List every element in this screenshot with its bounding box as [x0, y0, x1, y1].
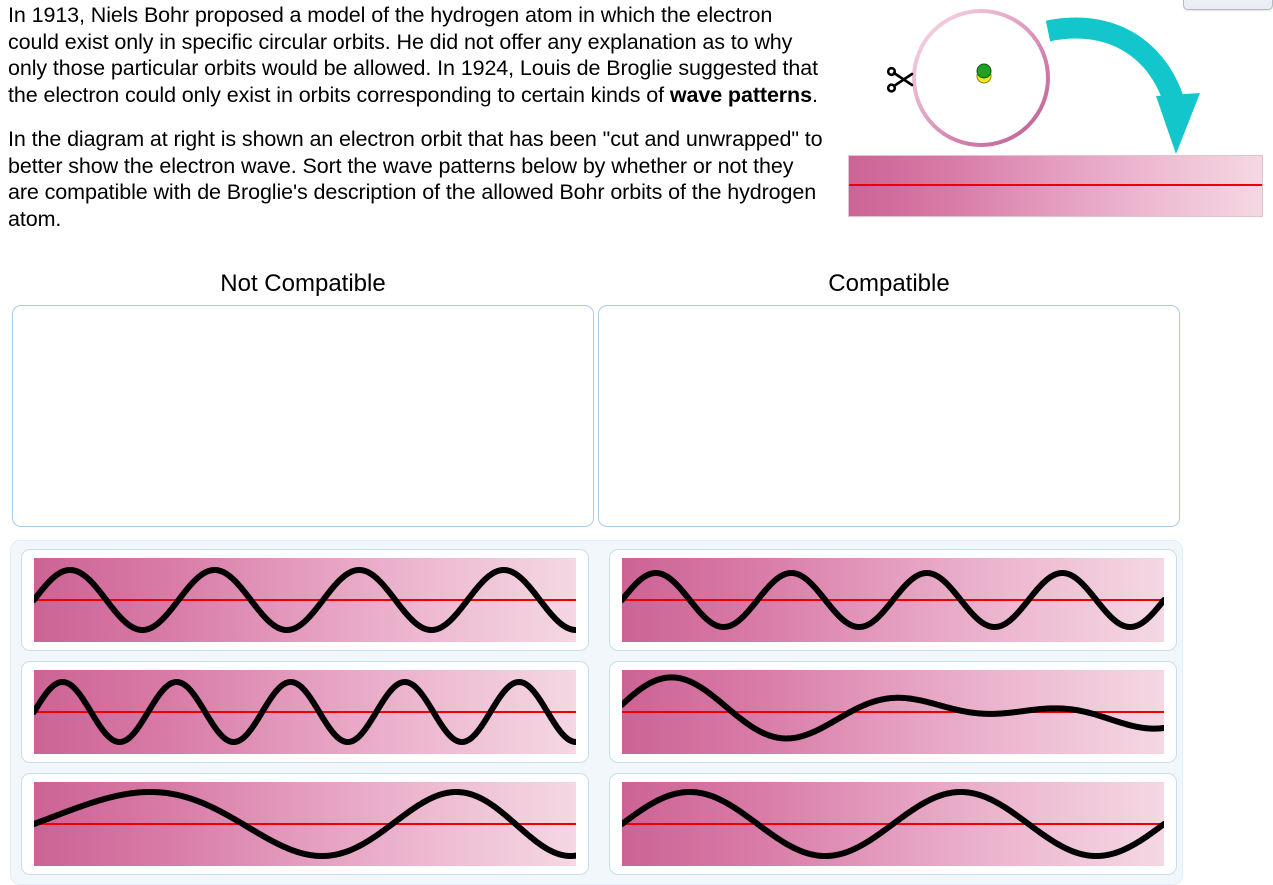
curved-arrow-icon	[1048, 28, 1200, 154]
orbit-diagram	[840, 0, 1273, 230]
orbit-illustration	[840, 0, 1273, 160]
wave-plot	[34, 558, 576, 642]
wave-plot	[622, 670, 1164, 754]
wave-plot	[34, 782, 576, 866]
unwrapped-orbit-strip	[848, 155, 1263, 217]
dropzone-not-compatible[interactable]	[12, 305, 594, 527]
prompt-text: In 1913, Niels Bohr proposed a model of …	[8, 2, 828, 232]
nucleus-icon	[977, 64, 991, 83]
wave-plot	[34, 670, 576, 754]
wave-card-wave-2[interactable]	[609, 549, 1177, 651]
wave-card-wave-3[interactable]	[21, 661, 589, 763]
wave-card-wave-5[interactable]	[21, 773, 589, 875]
wave-card-grid	[11, 549, 1182, 885]
zone-heading-compatible: Compatible	[598, 270, 1180, 298]
scissors-icon	[888, 68, 912, 91]
wave-pattern-tray	[10, 540, 1183, 885]
wave-card-wave-6[interactable]	[609, 773, 1177, 875]
wave-card-wave-1[interactable]	[21, 549, 589, 651]
wave-plot	[622, 558, 1164, 642]
wave-plot	[622, 782, 1164, 866]
prompt-paragraph-2: In the diagram at right is shown an elec…	[8, 126, 828, 232]
wave-patterns-term: wave patterns	[670, 83, 812, 107]
strip-zero-line	[849, 184, 1262, 186]
prompt-paragraph-1: In 1913, Niels Bohr proposed a model of …	[8, 2, 828, 108]
dropzone-compatible[interactable]	[598, 305, 1180, 527]
prompt-paragraph-1-part-2: .	[812, 83, 818, 107]
zone-heading-not-compatible: Not Compatible	[12, 270, 594, 298]
wave-card-wave-4[interactable]	[609, 661, 1177, 763]
